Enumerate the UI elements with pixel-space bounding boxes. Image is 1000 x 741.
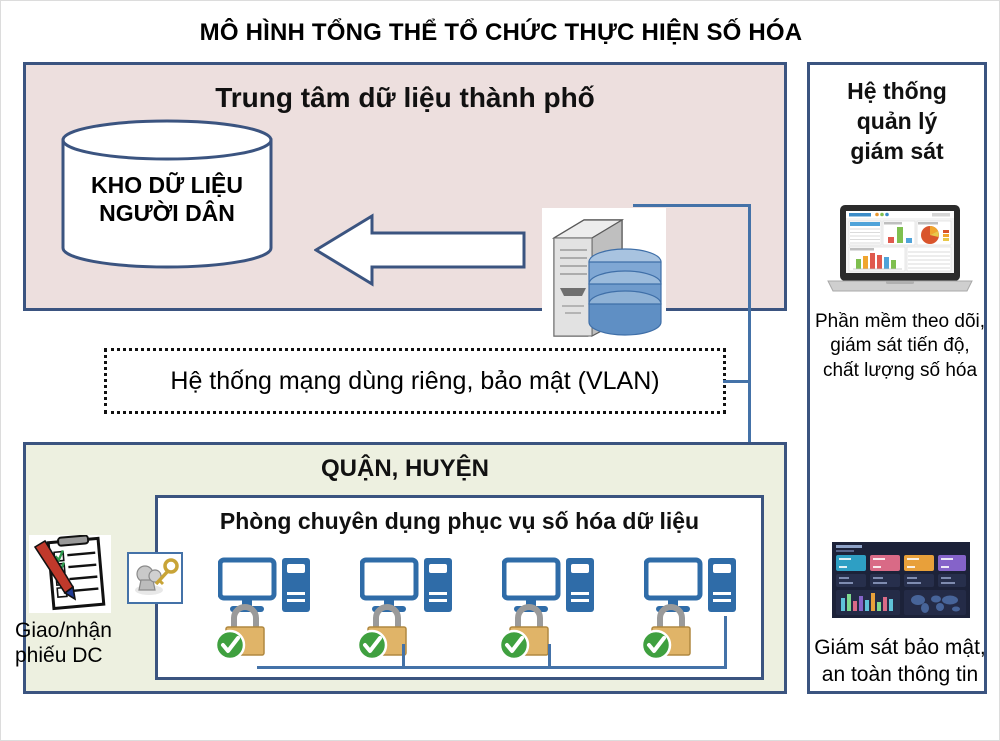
- room-bus-drop-3: [548, 644, 551, 669]
- clipboard-checklist-icon: [29, 535, 111, 613]
- server-database-icon: [542, 208, 666, 344]
- connector-server-horizontal: [633, 204, 751, 207]
- padlock-check-shape: [212, 604, 272, 662]
- datastore-label-line2: NGƯỜI DÂN: [60, 199, 274, 227]
- laptop-dashboard-image: [822, 199, 978, 299]
- padlock-check-icon: [212, 604, 272, 662]
- room-bus-drop-2: [402, 644, 405, 669]
- laptop-dashboard-shape: [822, 199, 978, 299]
- workstation-4[interactable]: [638, 556, 750, 664]
- room-network-bus: [257, 666, 727, 669]
- clipboard-shape: [29, 535, 111, 613]
- workstation-1[interactable]: [212, 556, 324, 664]
- dark-security-dashboard-image: [828, 538, 974, 622]
- monitoring-caption: Phần mềm theo dõi, giám sát tiến độ, chấ…: [814, 310, 986, 383]
- room-bus-drop-4: [724, 616, 727, 669]
- district-panel-title: QUẬN, HUYỆN: [26, 455, 784, 483]
- datastore-label-line1: KHO DỮ LIỆU: [60, 171, 274, 199]
- workstation-2[interactable]: [354, 556, 466, 664]
- city-data-center-panel: Trung tâm dữ liệu thành phố KHO DỮ LIỆU …: [23, 62, 787, 311]
- security-dashboard-shape: [828, 538, 974, 622]
- padlock-check-icon: [496, 604, 556, 662]
- monitoring-title-line3: giám sát: [810, 137, 984, 167]
- page-title: MÔ HÌNH TỔNG THỂ TỔ CHỨC THỰC HIỆN SỐ HÓ…: [1, 19, 1000, 47]
- intake-label-line2: phiếu DC: [15, 644, 135, 669]
- workstation-3[interactable]: [496, 556, 608, 664]
- left-arrow-icon: [314, 213, 526, 287]
- citizen-data-warehouse-cylinder: KHO DỮ LIỆU NGƯỜI DÂN: [60, 119, 274, 269]
- intake-label: Giao/nhận phiếu DC: [15, 619, 135, 669]
- padlock-check-icon: [638, 604, 698, 662]
- monitoring-panel-title: Hệ thống quản lý giám sát: [810, 77, 984, 167]
- city-panel-title: Trung tâm dữ liệu thành phố: [26, 82, 784, 114]
- padlock-check-shape: [496, 604, 556, 662]
- connector-vlan-stub: [723, 380, 751, 383]
- vlan-network-box: Hệ thống mạng dùng riêng, bảo mật (VLAN): [104, 348, 726, 414]
- monitoring-title-line1: Hệ thống: [810, 77, 984, 107]
- intake-label-line1: Giao/nhận: [15, 619, 135, 644]
- padlock-check-shape: [354, 604, 414, 662]
- diagram-canvas: MÔ HÌNH TỔNG THỂ TỔ CHỨC THỰC HIỆN SỐ HÓ…: [0, 0, 1000, 741]
- digitization-room-box: Phòng chuyên dụng phục vụ số hóa dữ liệu: [155, 495, 764, 680]
- left-arrow-shape: [314, 213, 526, 287]
- vlan-label: Hệ thống mạng dùng riêng, bảo mật (VLAN): [170, 367, 659, 396]
- padlock-check-icon: [354, 604, 414, 662]
- lock-and-key-icon: [127, 552, 183, 604]
- monitoring-system-panel: Hệ thống quản lý giám sát: [807, 62, 987, 694]
- room-title: Phòng chuyên dụng phục vụ số hóa dữ liệu: [158, 508, 761, 535]
- monitoring-title-line2: quản lý: [810, 107, 984, 137]
- lock-and-key-shape: [129, 554, 181, 602]
- server-icon-shape: [542, 208, 666, 344]
- padlock-check-shape: [638, 604, 698, 662]
- security-caption: Giám sát bảo mật, an toàn thông tin: [814, 635, 986, 689]
- datastore-label: KHO DỮ LIỆU NGƯỜI DÂN: [60, 171, 274, 227]
